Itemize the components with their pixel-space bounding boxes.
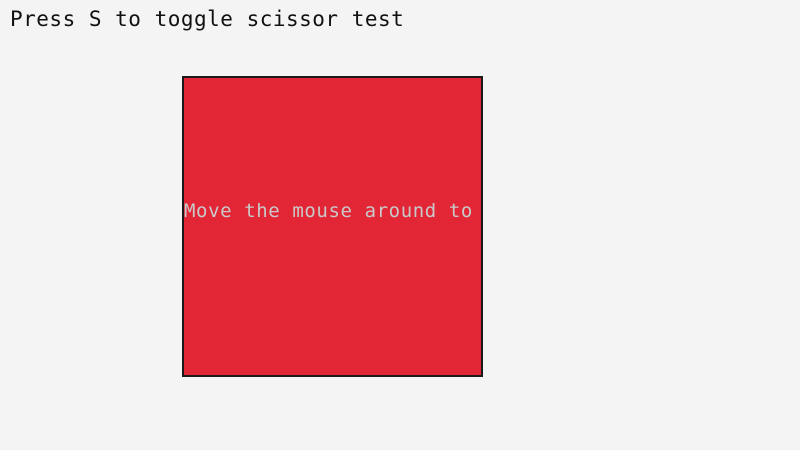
demo-canvas: Press S to toggle scissor test Move the … <box>0 0 800 450</box>
scissor-region-rect: Move the mouse around to r <box>182 76 483 377</box>
scissor-clipped-text: Move the mouse around to r <box>184 199 483 223</box>
instruction-text: Press S to toggle scissor test <box>10 6 404 32</box>
